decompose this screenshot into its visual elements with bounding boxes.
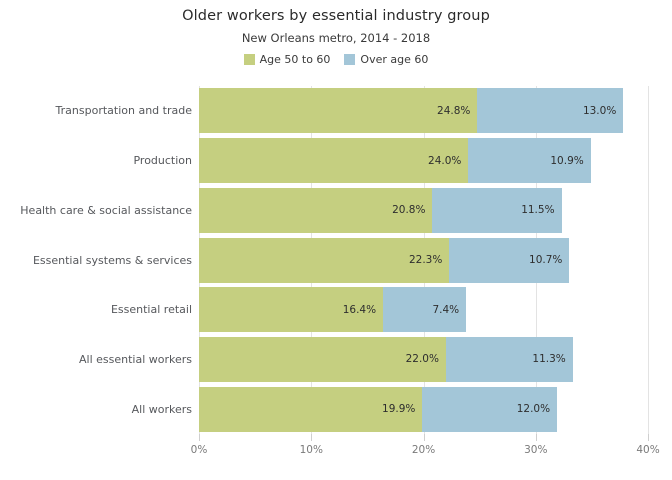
- bar-value-label: 11.5%: [521, 204, 561, 216]
- plot-area: 24.8%13.0%24.0%10.9%20.8%11.5%22.3%10.7%…: [199, 86, 648, 434]
- bar-segment-age-50-to-60[interactable]: 24.8%: [199, 88, 477, 133]
- legend-item-over-age-60[interactable]: Over age 60: [344, 53, 428, 66]
- bar-segment-over-age-60[interactable]: 7.4%: [383, 287, 466, 332]
- bar-value-label: 24.8%: [437, 105, 477, 117]
- chart-legend: Age 50 to 60 Over age 60: [0, 53, 672, 66]
- bar-segment-age-50-to-60[interactable]: 24.0%: [199, 138, 468, 183]
- bar-value-label: 16.4%: [343, 304, 383, 316]
- bar-row: 19.9%12.0%: [199, 387, 648, 432]
- bar-segment-age-50-to-60[interactable]: 22.3%: [199, 238, 449, 283]
- x-tick-mark: [648, 434, 649, 441]
- category-label: Essential systems & services: [0, 238, 192, 283]
- y-axis-category-labels: Transportation and tradeProductionHealth…: [0, 86, 192, 434]
- bar-value-label: 22.3%: [409, 254, 449, 266]
- legend-swatch-icon-blue: [344, 54, 355, 65]
- bar-value-label: 13.0%: [583, 105, 623, 117]
- x-tick-label: 10%: [300, 444, 323, 456]
- gridline-40: [648, 86, 649, 434]
- bar-segment-over-age-60[interactable]: 10.9%: [468, 138, 590, 183]
- bar-value-label: 20.8%: [392, 204, 432, 216]
- bar-value-label: 10.9%: [550, 155, 590, 167]
- bar-segment-over-age-60[interactable]: 13.0%: [477, 88, 623, 133]
- bar-value-label: 24.0%: [428, 155, 468, 167]
- chart-subtitle: New Orleans metro, 2014 - 2018: [0, 31, 672, 45]
- bar-row: 22.0%11.3%: [199, 337, 648, 382]
- bar-segment-age-50-to-60[interactable]: 22.0%: [199, 337, 446, 382]
- bar-segment-over-age-60[interactable]: 10.7%: [449, 238, 569, 283]
- bar-rows: 24.8%13.0%24.0%10.9%20.8%11.5%22.3%10.7%…: [199, 86, 648, 434]
- x-tick-label: 20%: [412, 444, 435, 456]
- legend-label-over-age-60: Over age 60: [360, 53, 428, 66]
- bar-segment-age-50-to-60[interactable]: 20.8%: [199, 188, 432, 233]
- category-label: Transportation and trade: [0, 88, 192, 133]
- bar-value-label: 19.9%: [382, 403, 422, 415]
- category-label: Health care & social assistance: [0, 188, 192, 233]
- x-tick-mark: [311, 434, 312, 441]
- category-label: All essential workers: [0, 337, 192, 382]
- x-axis: 0%10%20%30%40%: [199, 434, 648, 474]
- bar-segment-over-age-60[interactable]: 12.0%: [422, 387, 557, 432]
- x-tick-label: 40%: [636, 444, 659, 456]
- bar-segment-over-age-60[interactable]: 11.3%: [446, 337, 573, 382]
- bar-row: 20.8%11.5%: [199, 188, 648, 233]
- bar-row: 22.3%10.7%: [199, 238, 648, 283]
- bar-value-label: 11.3%: [532, 353, 572, 365]
- bar-value-label: 12.0%: [517, 403, 557, 415]
- x-tick-label: 0%: [191, 444, 208, 456]
- bar-row: 24.8%13.0%: [199, 88, 648, 133]
- bar-segment-age-50-to-60[interactable]: 16.4%: [199, 287, 383, 332]
- bar-row: 16.4%7.4%: [199, 287, 648, 332]
- bar-segment-over-age-60[interactable]: 11.5%: [432, 188, 561, 233]
- bar-value-label: 10.7%: [529, 254, 569, 266]
- chart-container: Older workers by essential industry grou…: [0, 0, 672, 480]
- bar-value-label: 22.0%: [406, 353, 446, 365]
- legend-item-age-50-to-60[interactable]: Age 50 to 60: [244, 53, 331, 66]
- category-label: All workers: [0, 387, 192, 432]
- bar-segment-age-50-to-60[interactable]: 19.9%: [199, 387, 422, 432]
- x-tick-mark: [424, 434, 425, 441]
- legend-label-age-50-to-60: Age 50 to 60: [260, 53, 331, 66]
- bar-value-label: 7.4%: [432, 304, 466, 316]
- category-label: Production: [0, 138, 192, 183]
- category-label: Essential retail: [0, 287, 192, 332]
- x-tick-mark: [199, 434, 200, 441]
- bar-row: 24.0%10.9%: [199, 138, 648, 183]
- legend-swatch-icon-green: [244, 54, 255, 65]
- x-tick-mark: [536, 434, 537, 441]
- chart-title: Older workers by essential industry grou…: [0, 8, 672, 24]
- x-tick-label: 30%: [524, 444, 547, 456]
